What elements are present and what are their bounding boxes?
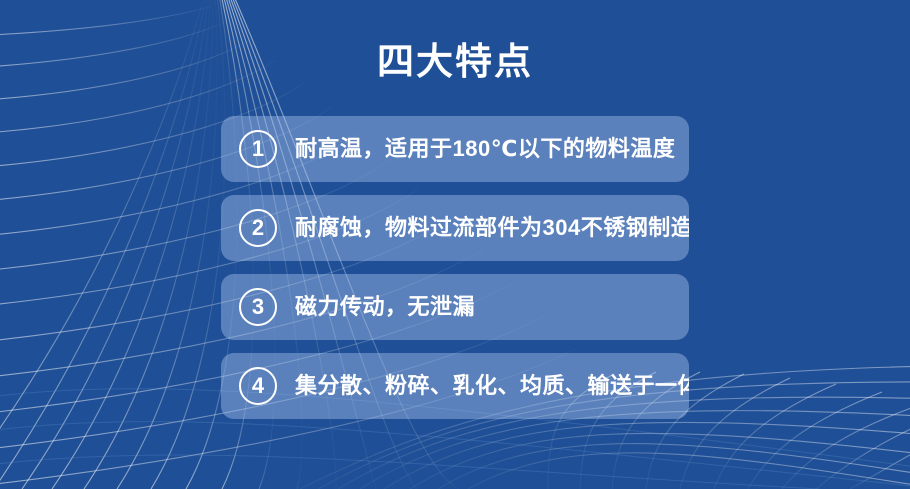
feature-item-3[interactable]: 3 磁力传动，无泄漏 (221, 274, 689, 340)
feature-item-2[interactable]: 2 耐腐蚀，物料过流部件为304不锈钢制造 (221, 195, 689, 261)
page-title: 四大特点 (0, 39, 910, 85)
feature-number-badge-3: 3 (239, 288, 277, 326)
feature-number-badge-1: 1 (239, 130, 277, 168)
feature-item-4[interactable]: 4 集分散、粉碎、乳化、均质、输送于一体 (221, 353, 689, 419)
feature-text-1: 耐高温，适用于180℃以下的物料温度 (295, 134, 675, 164)
feature-text-3: 磁力传动，无泄漏 (295, 292, 475, 322)
feature-item-1[interactable]: 1 耐高温，适用于180℃以下的物料温度 (221, 116, 689, 182)
feature-number-badge-2: 2 (239, 209, 277, 247)
feature-number-badge-4: 4 (239, 367, 277, 405)
feature-text-2: 耐腐蚀，物料过流部件为304不锈钢制造 (295, 213, 689, 243)
feature-text-4: 集分散、粉碎、乳化、均质、输送于一体 (295, 371, 689, 401)
feature-banner: 四大特点 1 耐高温，适用于180℃以下的物料温度 2 耐腐蚀，物料过流部件为3… (0, 0, 910, 489)
feature-list: 1 耐高温，适用于180℃以下的物料温度 2 耐腐蚀，物料过流部件为304不锈钢… (221, 116, 689, 419)
